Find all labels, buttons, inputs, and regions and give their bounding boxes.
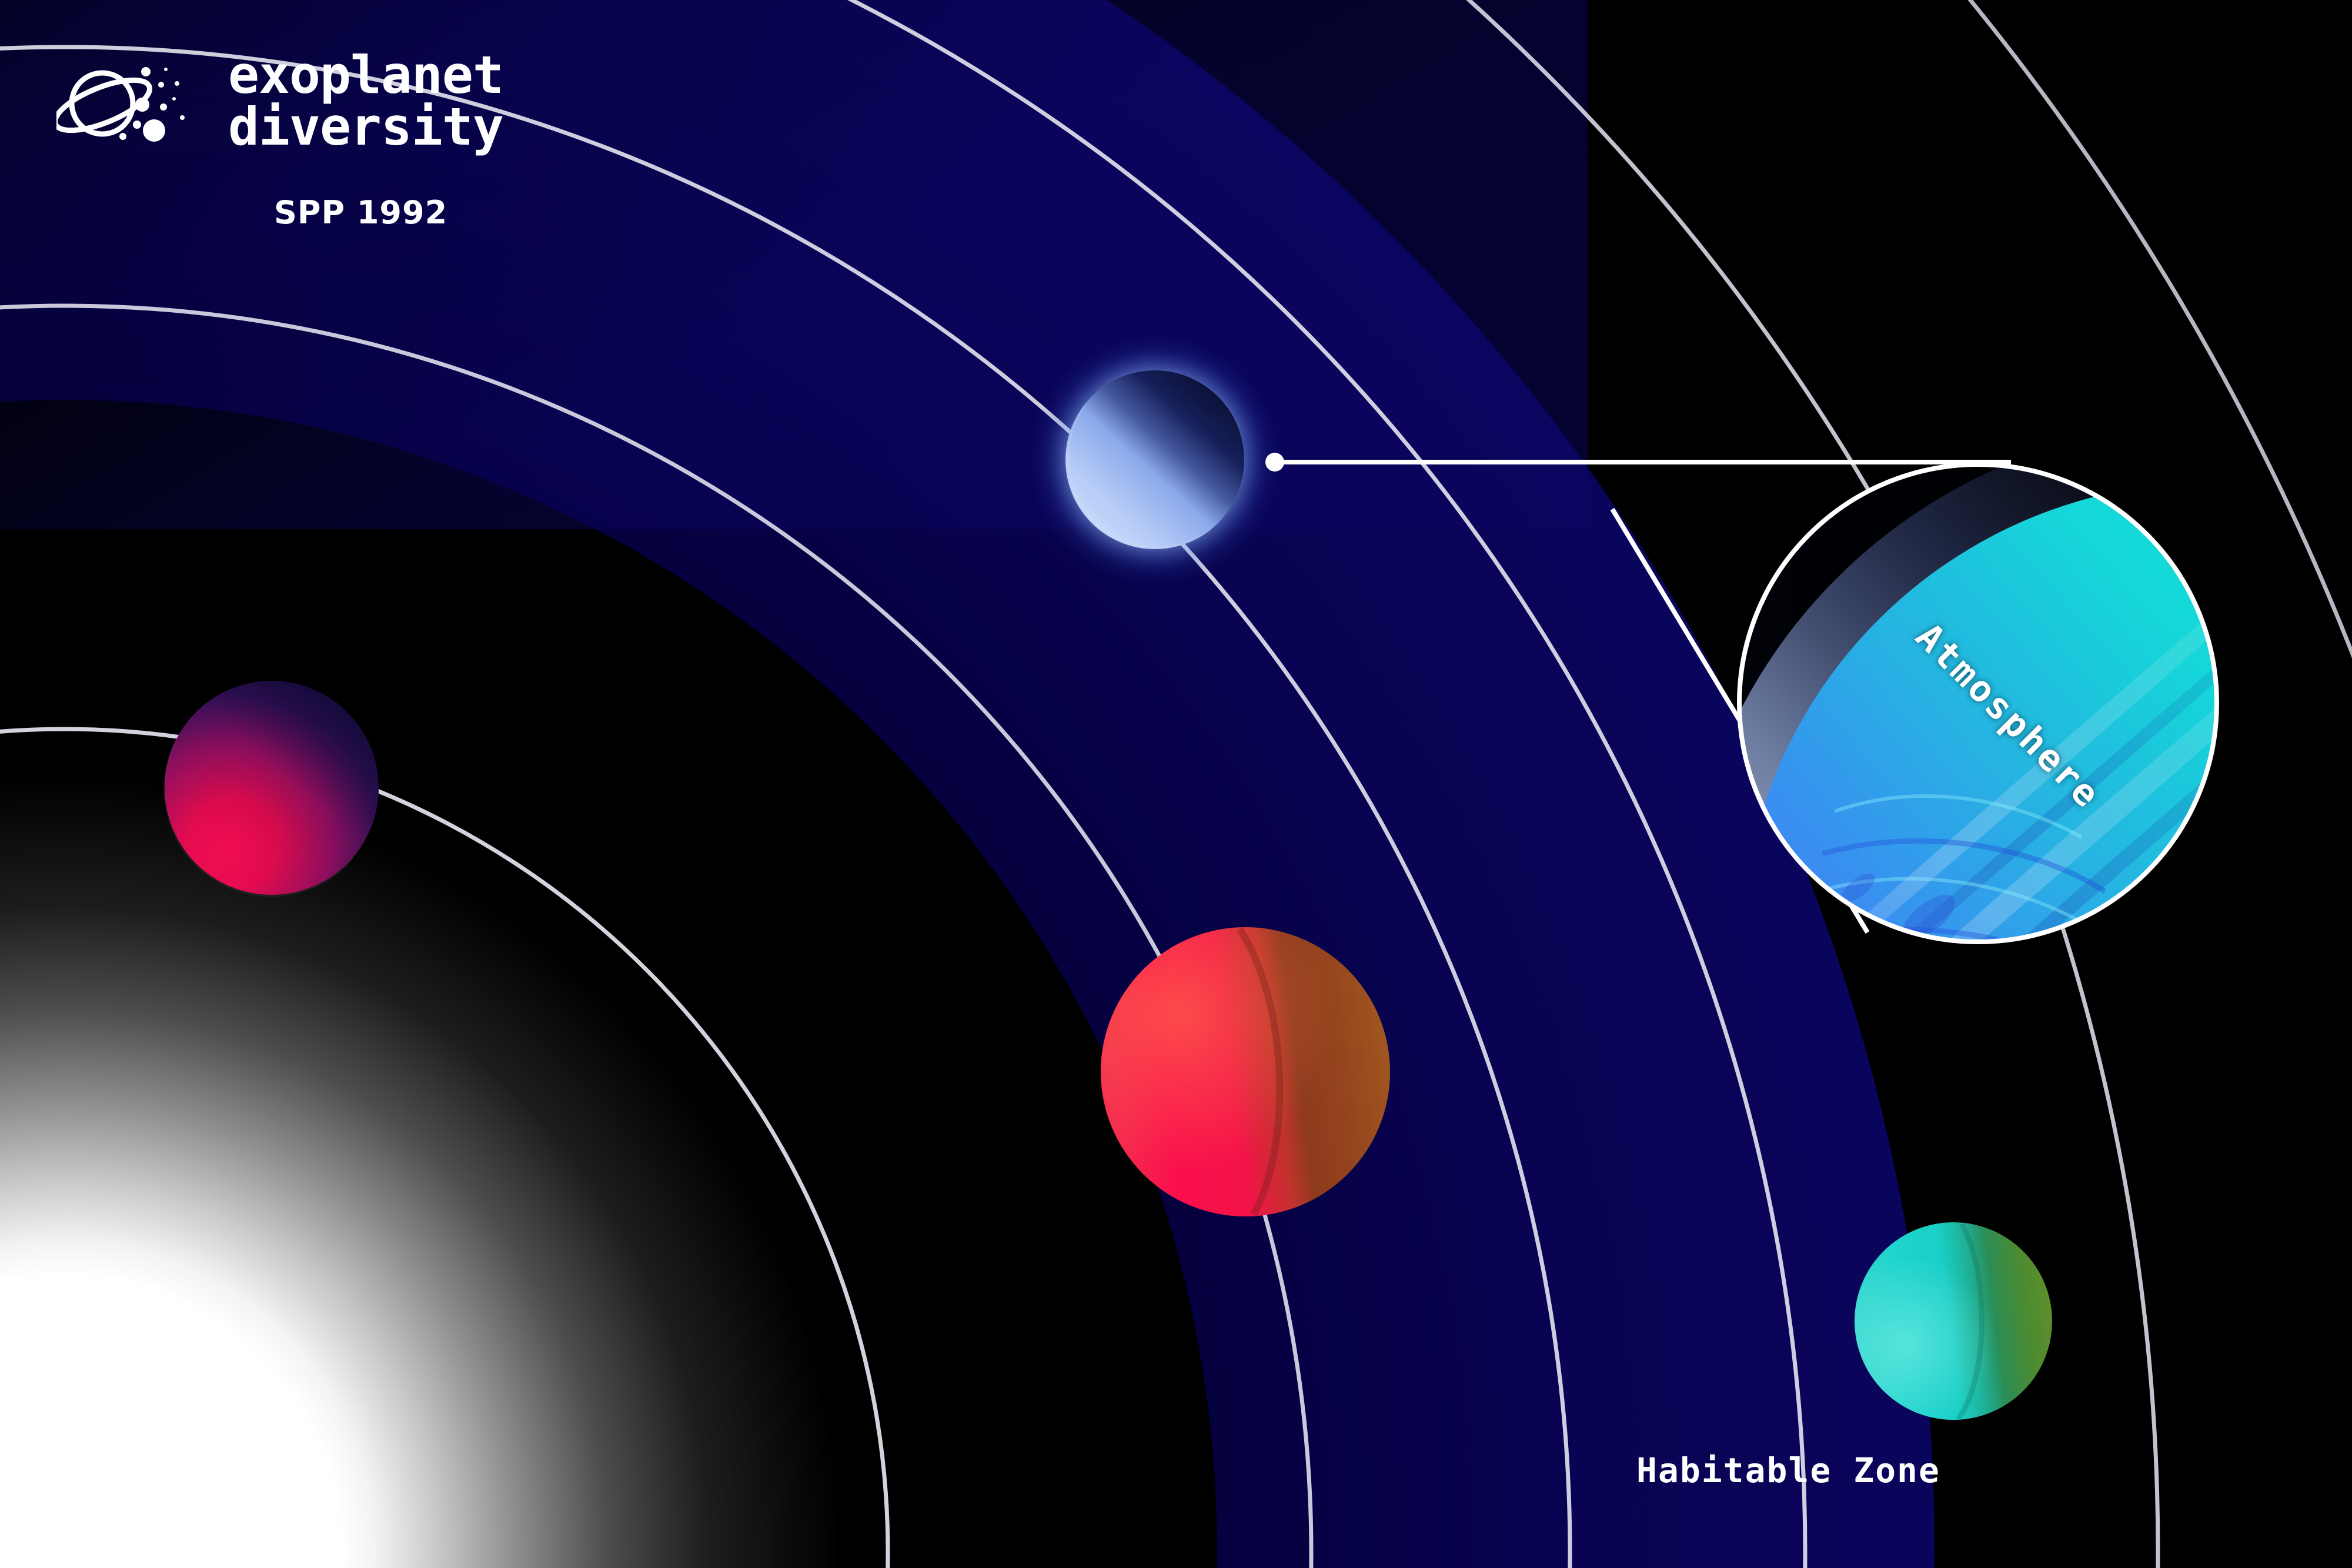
- upper-sky-wash: [0, 0, 1588, 529]
- exoplanet-diversity-illustration: exoplanet diversity SPP 1992 Habitable Z…: [0, 0, 2352, 1568]
- planet-red: [1101, 927, 1390, 1216]
- space-scene: [0, 0, 2352, 1568]
- planet-teal: [1855, 1222, 2052, 1420]
- callout-source-dot: [1265, 453, 1284, 472]
- planet-magenta: [164, 681, 379, 896]
- planet-ice-blue: [1028, 333, 1282, 587]
